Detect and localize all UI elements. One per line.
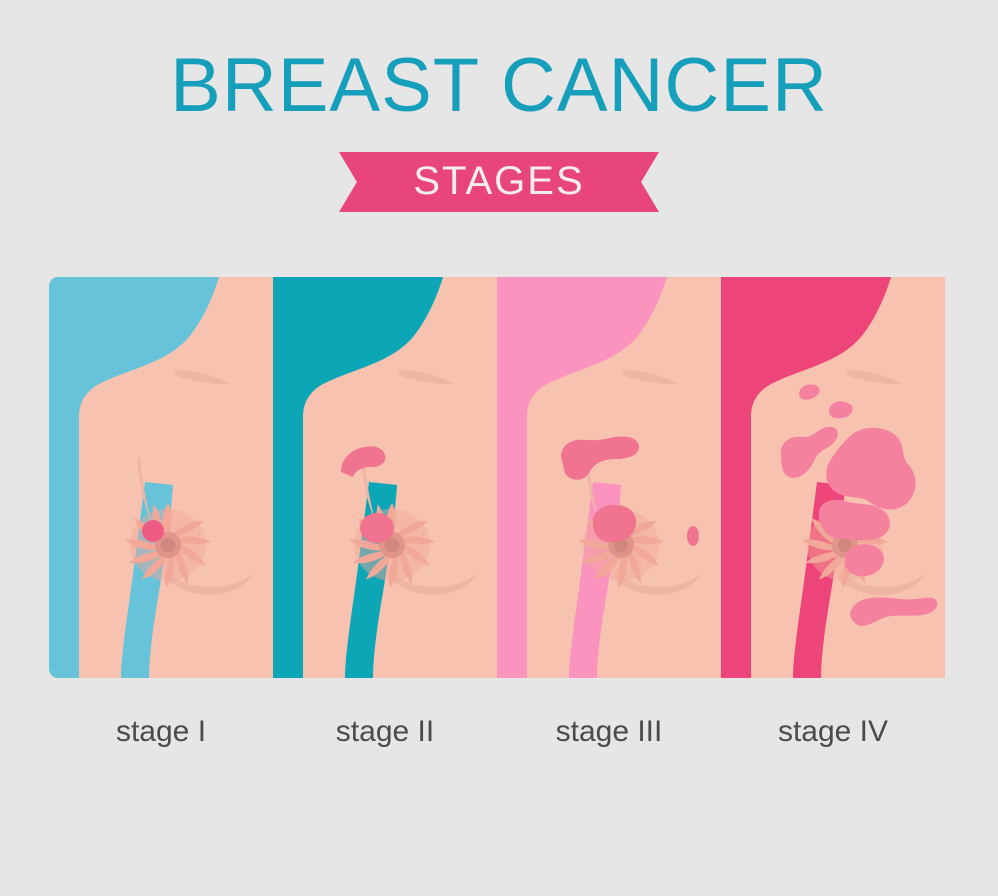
- stage-panel-2[interactable]: [273, 277, 497, 678]
- tumor-primary: [360, 513, 394, 543]
- stage-panel-strip: [49, 277, 945, 678]
- stages-ribbon: STAGES: [339, 152, 659, 212]
- stage-caption-row: stage I stage II stage III stage IV: [49, 715, 945, 759]
- tumor-primary: [142, 520, 164, 542]
- areola-inner: [161, 538, 175, 552]
- stage-caption-3: stage III: [497, 715, 721, 759]
- stage-panel-3[interactable]: [497, 277, 721, 678]
- areola-inner: [385, 538, 399, 552]
- stage-panel-4[interactable]: [721, 277, 945, 678]
- page-title: BREAST CANCER: [0, 46, 998, 126]
- stage-caption-4: stage IV: [721, 715, 945, 759]
- stage-panel-1[interactable]: [49, 277, 273, 678]
- tumor-satellite: [687, 526, 699, 546]
- stage-caption-2: stage II: [273, 715, 497, 759]
- stage-caption-1: stage I: [49, 715, 273, 759]
- ribbon-label: STAGES: [339, 152, 659, 212]
